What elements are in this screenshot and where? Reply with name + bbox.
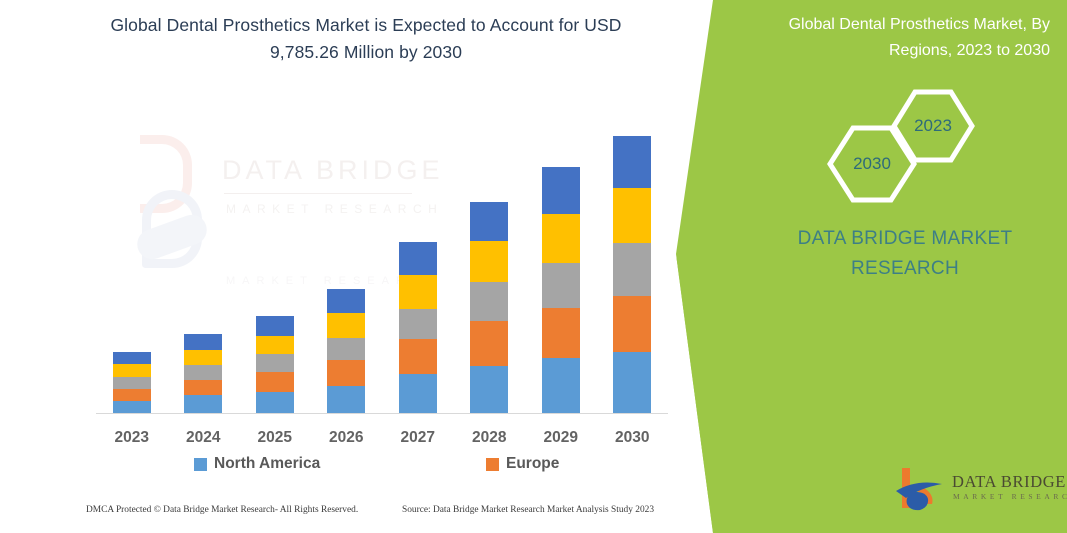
bar-segment: [327, 289, 365, 313]
bar-segment: [184, 365, 222, 380]
bar-segment: [113, 401, 151, 413]
regions-panel-brand: DATA BRIDGE MARKET RESEARCH: [760, 224, 1050, 284]
bar-segment: [613, 136, 651, 189]
bar-segment: [542, 167, 580, 214]
bar-segment: [470, 241, 508, 282]
bar-segment: [542, 214, 580, 263]
bar-segment: [256, 316, 294, 336]
bar-segment: [113, 389, 151, 402]
x-axis-label-2029: 2029: [525, 429, 597, 447]
x-axis-label-2023: 2023: [96, 429, 168, 447]
source-note: Source: Data Bridge Market Research Mark…: [402, 505, 654, 515]
chart-panel: Global Dental Prosthetics Market is Expe…: [0, 0, 716, 533]
bar-segment: [613, 352, 651, 413]
x-axis-label-2024: 2024: [167, 429, 239, 447]
bar-2028: [470, 202, 508, 413]
bar-segment: [470, 202, 508, 241]
bar-segment: [613, 188, 651, 243]
bar-segment: [542, 308, 580, 359]
hexagon-2030-label: 2030: [853, 154, 891, 174]
x-axis-label-2025: 2025: [239, 429, 311, 447]
bar-segment: [470, 366, 508, 413]
bar-segment: [184, 395, 222, 413]
bar-segment: [113, 352, 151, 365]
bar-segment: [256, 372, 294, 392]
bar-2030: [613, 136, 651, 413]
legend-swatch-icon: [486, 458, 499, 471]
bar-segment: [256, 336, 294, 355]
bar-segment: [399, 242, 437, 275]
legend-label: Europe: [506, 455, 559, 473]
bar-segment: [327, 360, 365, 385]
databridge-logo: DATA BRIDGE MARKET RESEARCH: [892, 462, 1062, 518]
bar-segment: [613, 243, 651, 296]
bar-2026: [327, 289, 365, 413]
bar-segment: [542, 263, 580, 308]
hexagon-year-group: 2030 2023: [816, 88, 1016, 198]
bar-segment: [184, 350, 222, 366]
bar-segment: [113, 377, 151, 389]
bar-segment: [113, 364, 151, 377]
bar-2024: [184, 334, 222, 413]
bar-segment: [542, 358, 580, 413]
legend-item-europe[interactable]: Europe: [486, 455, 559, 473]
bar-2027: [399, 242, 437, 413]
x-axis-label-2028: 2028: [453, 429, 525, 447]
bar-2025: [256, 316, 294, 413]
chart-legend: North AmericaEurope: [96, 455, 668, 479]
logo-text-secondary: MARKET RESEARCH: [953, 492, 1067, 501]
bar-segment: [256, 392, 294, 413]
x-axis-label-2027: 2027: [382, 429, 454, 447]
bar-segment: [399, 374, 437, 413]
bar-segment: [327, 313, 365, 337]
bar-segment: [399, 309, 437, 339]
bar-segment: [184, 380, 222, 396]
logo-text-primary: DATA BRIDGE: [952, 472, 1066, 492]
bar-segment: [613, 296, 651, 353]
x-axis-label-2030: 2030: [596, 429, 668, 447]
bar-segment: [256, 354, 294, 372]
bar-segment: [399, 339, 437, 374]
bar-segment: [399, 275, 437, 308]
dmca-notice: DMCA Protected © Data Bridge Market Rese…: [86, 505, 358, 515]
bar-segment: [327, 338, 365, 360]
hexagon-2023-label: 2023: [914, 116, 952, 136]
footer: DMCA Protected © Data Bridge Market Rese…: [0, 505, 716, 527]
infographic-root: Global Dental Prosthetics Market is Expe…: [0, 0, 1067, 533]
bar-2029: [542, 167, 580, 413]
bar-2023: [113, 352, 151, 414]
bar-segment: [184, 334, 222, 350]
legend-item-north-america[interactable]: North America: [194, 455, 320, 473]
regions-panel-title: Global Dental Prosthetics Market, By Reg…: [750, 12, 1050, 64]
x-axis-label-2026: 2026: [310, 429, 382, 447]
regions-panel: Global Dental Prosthetics Market, By Reg…: [676, 0, 1067, 533]
databridge-logo-mark-icon: [892, 464, 944, 514]
x-axis-line: [96, 413, 668, 414]
legend-label: North America: [214, 455, 320, 473]
legend-swatch-icon: [194, 458, 207, 471]
x-axis-labels: 20232024202520262027202820292030: [96, 429, 668, 451]
stacked-bar-chart: [96, 120, 668, 414]
bar-segment: [470, 321, 508, 366]
bar-segment: [327, 386, 365, 413]
hexagon-2023: 2023: [890, 88, 976, 164]
bar-segment: [470, 282, 508, 321]
page-title: Global Dental Prosthetics Market is Expe…: [86, 12, 646, 66]
